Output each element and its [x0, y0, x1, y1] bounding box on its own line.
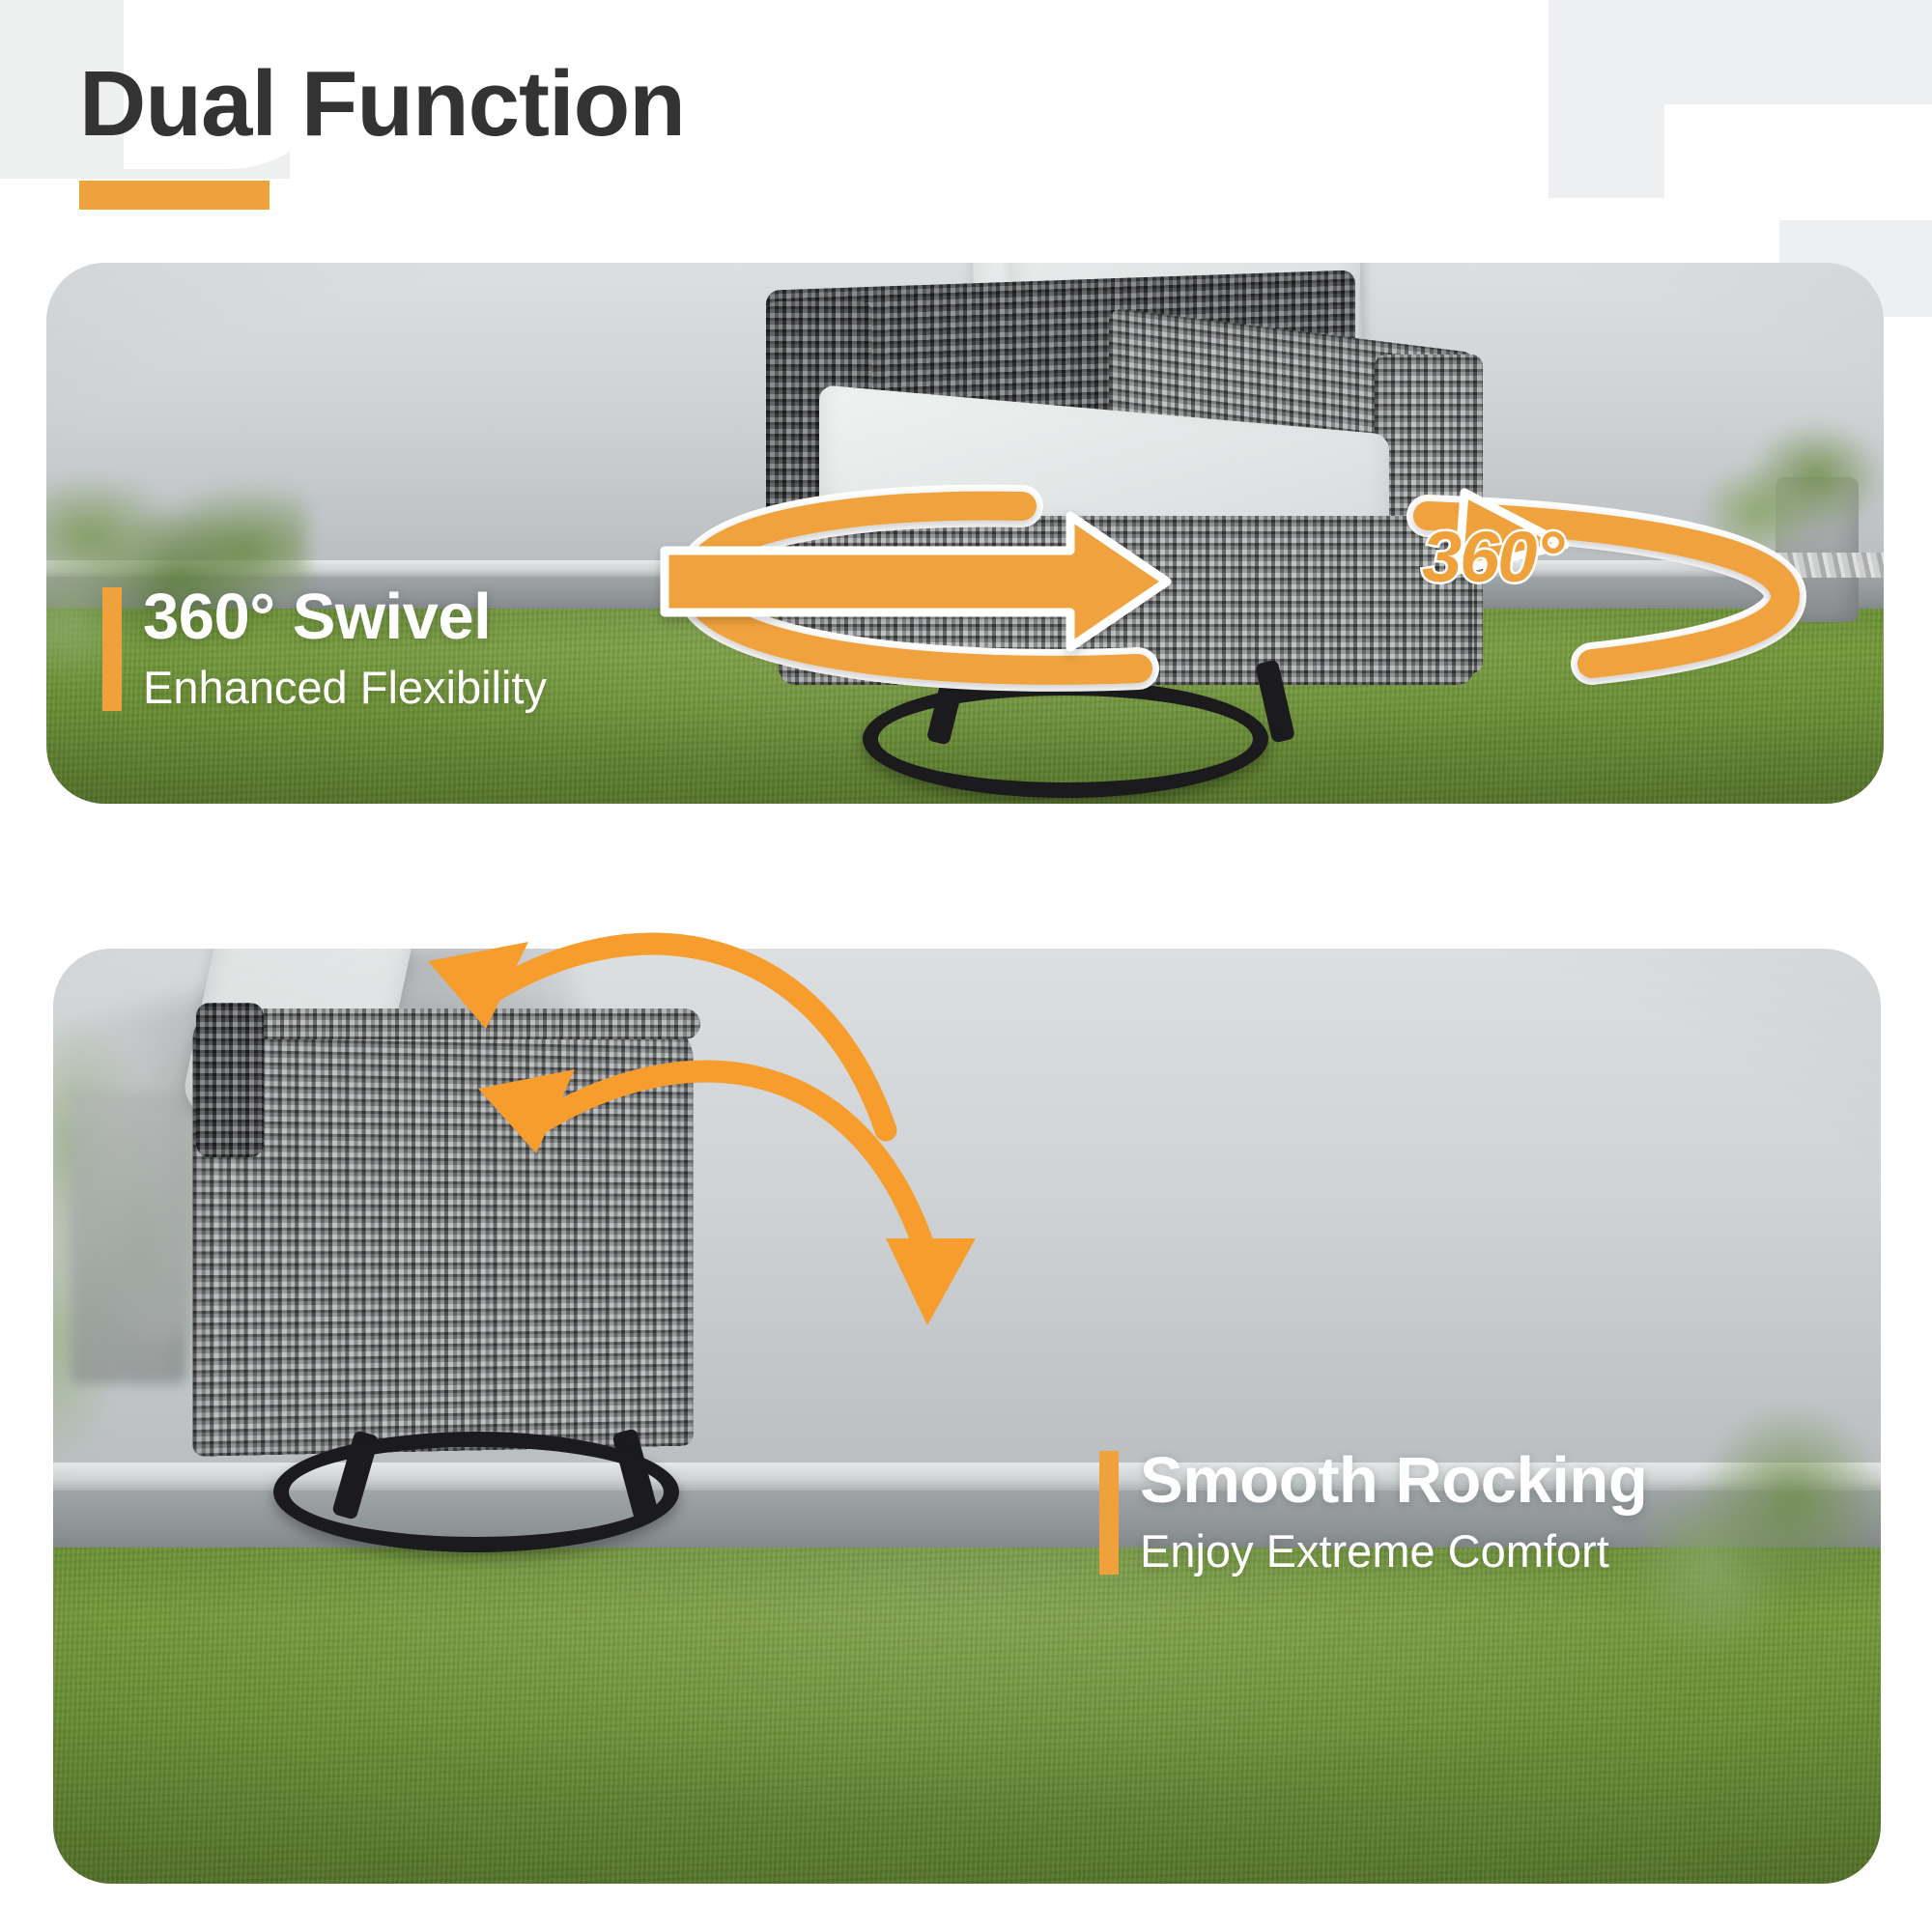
page-title: Dual Function — [79, 56, 685, 154]
top-right-corner-decoration-stem — [1548, 0, 1664, 198]
title-underline-accent — [79, 181, 270, 210]
callout-swivel: 360° Swivel Enhanced Flexibility — [102, 583, 547, 713]
rocking-scene-photo — [53, 949, 1881, 1884]
callout-accent-bar-rocking — [1099, 1451, 1119, 1575]
callout-accent-bar-swivel — [102, 587, 122, 711]
panel-rocking: Smooth Rocking Enjoy Extreme Comfort — [53, 949, 1881, 1884]
scene-vignette-2 — [53, 949, 1881, 1884]
callout-subheading-swivel: Enhanced Flexibility — [143, 663, 547, 713]
callout-rocking: Smooth Rocking Enjoy Extreme Comfort — [1099, 1447, 1647, 1577]
product-feature-graphic: Dual Function — [0, 0, 1932, 1932]
callout-subheading-rocking: Enjoy Extreme Comfort — [1140, 1526, 1647, 1577]
swivel-360-badge: 360° — [1422, 522, 1562, 593]
swivel-scene-photo — [46, 263, 1884, 804]
scene-vignette — [46, 263, 1884, 804]
callout-heading-rocking: Smooth Rocking — [1140, 1447, 1647, 1515]
panel-swivel: 360° 360° Swivel Enhanced Flexibility — [46, 263, 1884, 804]
callout-heading-swivel: 360° Swivel — [143, 583, 547, 651]
